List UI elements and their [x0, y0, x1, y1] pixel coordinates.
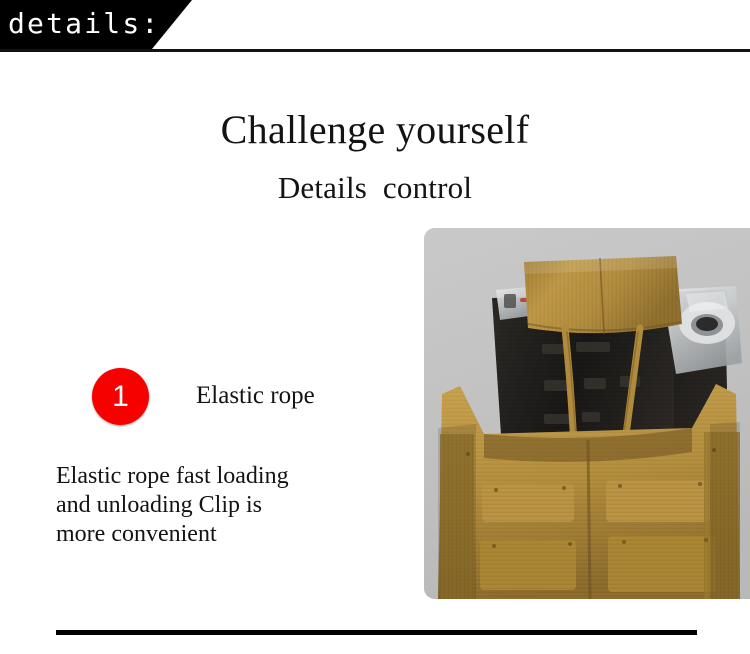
feature-item-1: 1 Elastic rope [92, 368, 402, 428]
product-photo [424, 228, 750, 599]
feature-description: Elastic rope fast loading and unloading … [56, 462, 396, 549]
feature-description-line-2: and unloading Clip is [56, 491, 396, 520]
feature-badge-number: 1 [92, 368, 149, 425]
page-subtitle: Details control [0, 168, 750, 208]
feature-description-line-3: more convenient [56, 520, 396, 549]
header-divider [0, 49, 750, 52]
header-banner: details: [0, 0, 750, 49]
feature-label: Elastic rope [196, 380, 315, 412]
feature-description-line-1: Elastic rope fast loading [56, 462, 396, 491]
header-tag-label: details: [8, 7, 160, 41]
product-photo-illustration [424, 228, 750, 599]
page-title: Challenge yourself [0, 106, 750, 154]
footer-divider [56, 630, 697, 635]
